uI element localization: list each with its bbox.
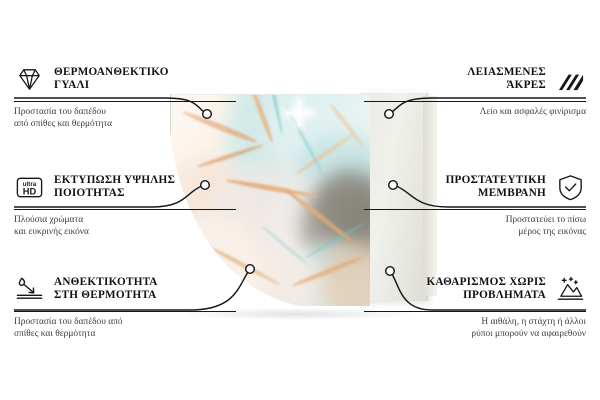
polished-edges-icon bbox=[555, 64, 586, 95]
feature-polished-edges[interactable]: ΛΕΙΑΣΜΕΝΕΣ ΆΚΡΕΣ Λείο και ασφαλές φινίρι… bbox=[364, 62, 586, 119]
feature-header: ΑΝΘΕΚΤΙΚΟΤΗΤΑ ΣΤΗ ΘΕΡΜΟΤΗΤΑ bbox=[14, 272, 236, 306]
feature-title: ΛΕΙΑΣΜΕΝΕΣ ΆΚΡΕΣ bbox=[467, 66, 546, 93]
feature-high-quality-print[interactable]: ultra HD ΕΚΤΥΠΩΣΗ ΥΨΗΛΗΣ ΠΟΙΟΤΗΤΑΣ Πλούσ… bbox=[14, 170, 236, 238]
feature-title: ΠΡΟΣΤΑΤΕΥΤΙΚΗ ΜΕΜΒΡΑΝΗ bbox=[446, 174, 546, 201]
feature-protective-membrane[interactable]: ΠΡΟΣΤΑΤΕΥΤΙΚΗ ΜΕΜΒΡΑΝΗ Προστατεύει το πί… bbox=[364, 170, 586, 238]
infographic-canvas: ΘΕΡΜΟΑΝΘΕΚΤΙΚΟ ΓΥΑΛΙ Προστασία του δαπέδ… bbox=[0, 0, 600, 400]
divider bbox=[364, 209, 586, 210]
shield-check-icon bbox=[555, 172, 586, 203]
heat-resistance-icon bbox=[14, 274, 45, 305]
feature-header: ultra HD ΕΚΤΥΠΩΣΗ ΥΨΗΛΗΣ ΠΟΙΟΤΗΤΑΣ bbox=[14, 170, 236, 204]
divider bbox=[14, 101, 236, 102]
feature-description: Η αιθάλη, η στάχτη ή άλλοι ρύποι μπορούν… bbox=[364, 317, 586, 340]
feature-description: Προστασία του δαπέδου από σπίθες και θερ… bbox=[14, 317, 236, 340]
feature-header: ΚΑΘΑΡΙΣΜΟΣ ΧΩΡΙΣ ΠΡΟΒΛΗΜΑΤΑ bbox=[364, 272, 586, 306]
feature-title: ΕΚΤΥΠΩΣΗ ΥΨΗΛΗΣ ΠΟΙΟΤΗΤΑΣ bbox=[54, 174, 175, 201]
feature-description: Προστατεύει το πίσω μέρος της εικόνας bbox=[364, 215, 586, 238]
easy-clean-icon bbox=[555, 274, 586, 305]
feature-easy-cleaning[interactable]: ΚΑΘΑΡΙΣΜΟΣ ΧΩΡΙΣ ΠΡΟΒΛΗΜΑΤΑ Η αιθάλη, η … bbox=[364, 272, 586, 340]
feature-header: ΛΕΙΑΣΜΕΝΕΣ ΆΚΡΕΣ bbox=[364, 62, 586, 96]
divider bbox=[364, 101, 586, 102]
feature-header: ΘΕΡΜΟΑΝΘΕΚΤΙΚΟ ΓΥΑΛΙ bbox=[14, 62, 236, 96]
diamond-icon bbox=[14, 64, 45, 95]
feature-description: Λείο και ασφαλές φινίρισμα bbox=[364, 107, 586, 119]
feature-heat-resistance[interactable]: ΑΝΘΕΚΤΙΚΟΤΗΤΑ ΣΤΗ ΘΕΡΜΟΤΗΤΑ Προστασία το… bbox=[14, 272, 236, 340]
feature-description: Πλούσια χρώματα και ευκρινής εικόνα bbox=[14, 215, 236, 238]
feature-heat-resistant-glass[interactable]: ΘΕΡΜΟΑΝΘΕΚΤΙΚΟ ΓΥΑΛΙ Προστασία του δαπέδ… bbox=[14, 62, 236, 130]
feature-title: ΑΝΘΕΚΤΙΚΟΤΗΤΑ ΣΤΗ ΘΕΡΜΟΤΗΤΑ bbox=[54, 276, 158, 303]
hd-label: HD bbox=[23, 186, 37, 196]
feature-title: ΚΑΘΑΡΙΣΜΟΣ ΧΩΡΙΣ ΠΡΟΒΛΗΜΑΤΑ bbox=[426, 276, 546, 303]
divider bbox=[14, 311, 236, 312]
ultra-hd-icon: ultra HD bbox=[14, 172, 45, 203]
divider bbox=[364, 311, 586, 312]
feature-description: Προστασία του δαπέδου από σπίθες και θερ… bbox=[14, 107, 236, 130]
feature-header: ΠΡΟΣΤΑΤΕΥΤΙΚΗ ΜΕΜΒΡΑΝΗ bbox=[364, 170, 586, 204]
feature-title: ΘΕΡΜΟΑΝΘΕΚΤΙΚΟ ΓΥΑΛΙ bbox=[54, 66, 169, 93]
divider bbox=[14, 209, 236, 210]
